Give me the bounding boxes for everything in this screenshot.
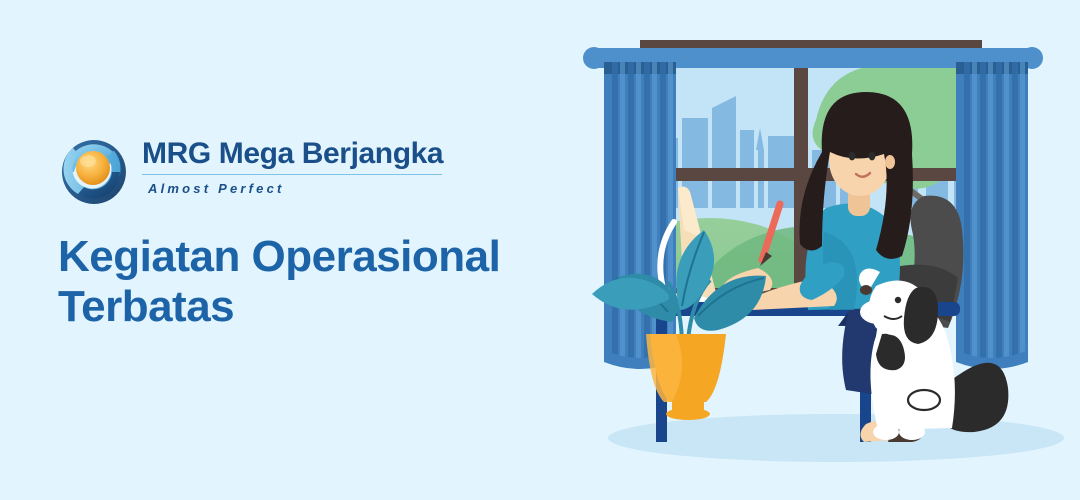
page-title: Kegiatan Operasional Terbatas [58,232,558,332]
brand-name: MRG Mega Berjangka [142,138,443,170]
headline-line-1: Kegiatan Operasional [58,232,558,282]
woman-eye-left [849,152,856,161]
promotional-banner: MRG Mega Berjangka Almost Perfect Kegiat… [0,0,1080,500]
illustration-woman-working-from-home [560,0,1080,500]
dog-eye [895,297,901,303]
brand-block: MRG Mega Berjangka Almost Perfect [58,134,528,208]
brand-text: MRG Mega Berjangka Almost Perfect [142,134,443,196]
dog-paw-right [899,424,925,440]
brand-divider [142,174,442,175]
headline-line-2: Terbatas [58,282,558,332]
dog-paw-left [873,424,899,440]
dog-nose [860,285,872,295]
woman-eye-right [869,152,876,161]
right-curtain [956,62,1028,369]
brand-row: MRG Mega Berjangka Almost Perfect [58,134,528,208]
brand-tagline: Almost Perfect [148,181,443,196]
mrg-swirl-logo-icon [58,136,130,208]
